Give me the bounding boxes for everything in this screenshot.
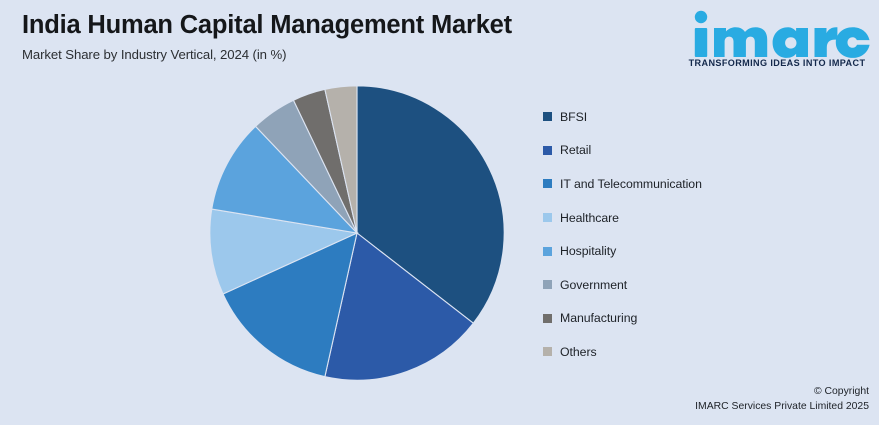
legend-swatch-icon <box>543 213 552 222</box>
imarc-logo: TRANSFORMING IDEAS INTO IMPACT <box>683 8 871 68</box>
legend-swatch-icon <box>543 314 552 323</box>
logo-tagline: TRANSFORMING IDEAS INTO IMPACT <box>683 58 871 68</box>
imarc-wordmark-icon <box>683 8 871 60</box>
legend-swatch-icon <box>543 280 552 289</box>
pie-chart <box>209 85 505 381</box>
copyright-line: © Copyright <box>695 385 869 400</box>
legend-label: Retail <box>560 143 591 157</box>
legend-swatch-icon <box>543 179 552 188</box>
legend-label: Healthcare <box>560 211 619 225</box>
page-title: India Human Capital Management Market <box>22 10 662 41</box>
legend-item[interactable]: Manufacturing <box>543 302 813 336</box>
footer: © Copyright IMARC Services Private Limit… <box>695 385 869 415</box>
chart-subtitle: Market Share by Industry Vertical, 2024 … <box>22 47 662 62</box>
legend-item[interactable]: Healthcare <box>543 201 813 235</box>
legend-label: Others <box>560 345 597 359</box>
legend-label: Hospitality <box>560 244 616 258</box>
legend-item[interactable]: BFSI <box>543 100 813 134</box>
legend-item[interactable]: Government <box>543 268 813 302</box>
chart-canvas: India Human Capital Management Market Ma… <box>0 0 879 425</box>
pie-chart-svg <box>209 85 505 381</box>
legend-swatch-icon <box>543 112 552 121</box>
chart-legend: BFSIRetailIT and TelecommunicationHealth… <box>543 100 813 369</box>
legend-item[interactable]: Retail <box>543 134 813 168</box>
legend-item[interactable]: IT and Telecommunication <box>543 167 813 201</box>
company-line: IMARC Services Private Limited 2025 <box>695 400 869 415</box>
legend-swatch-icon <box>543 146 552 155</box>
legend-label: IT and Telecommunication <box>560 177 702 191</box>
pie-slice-group <box>210 86 504 380</box>
legend-item[interactable]: Others <box>543 335 813 369</box>
legend-swatch-icon <box>543 247 552 256</box>
legend-swatch-icon <box>543 347 552 356</box>
header: India Human Capital Management Market Ma… <box>22 10 662 62</box>
legend-label: Government <box>560 278 627 292</box>
legend-label: BFSI <box>560 110 587 124</box>
legend-item[interactable]: Hospitality <box>543 234 813 268</box>
legend-label: Manufacturing <box>560 311 637 325</box>
